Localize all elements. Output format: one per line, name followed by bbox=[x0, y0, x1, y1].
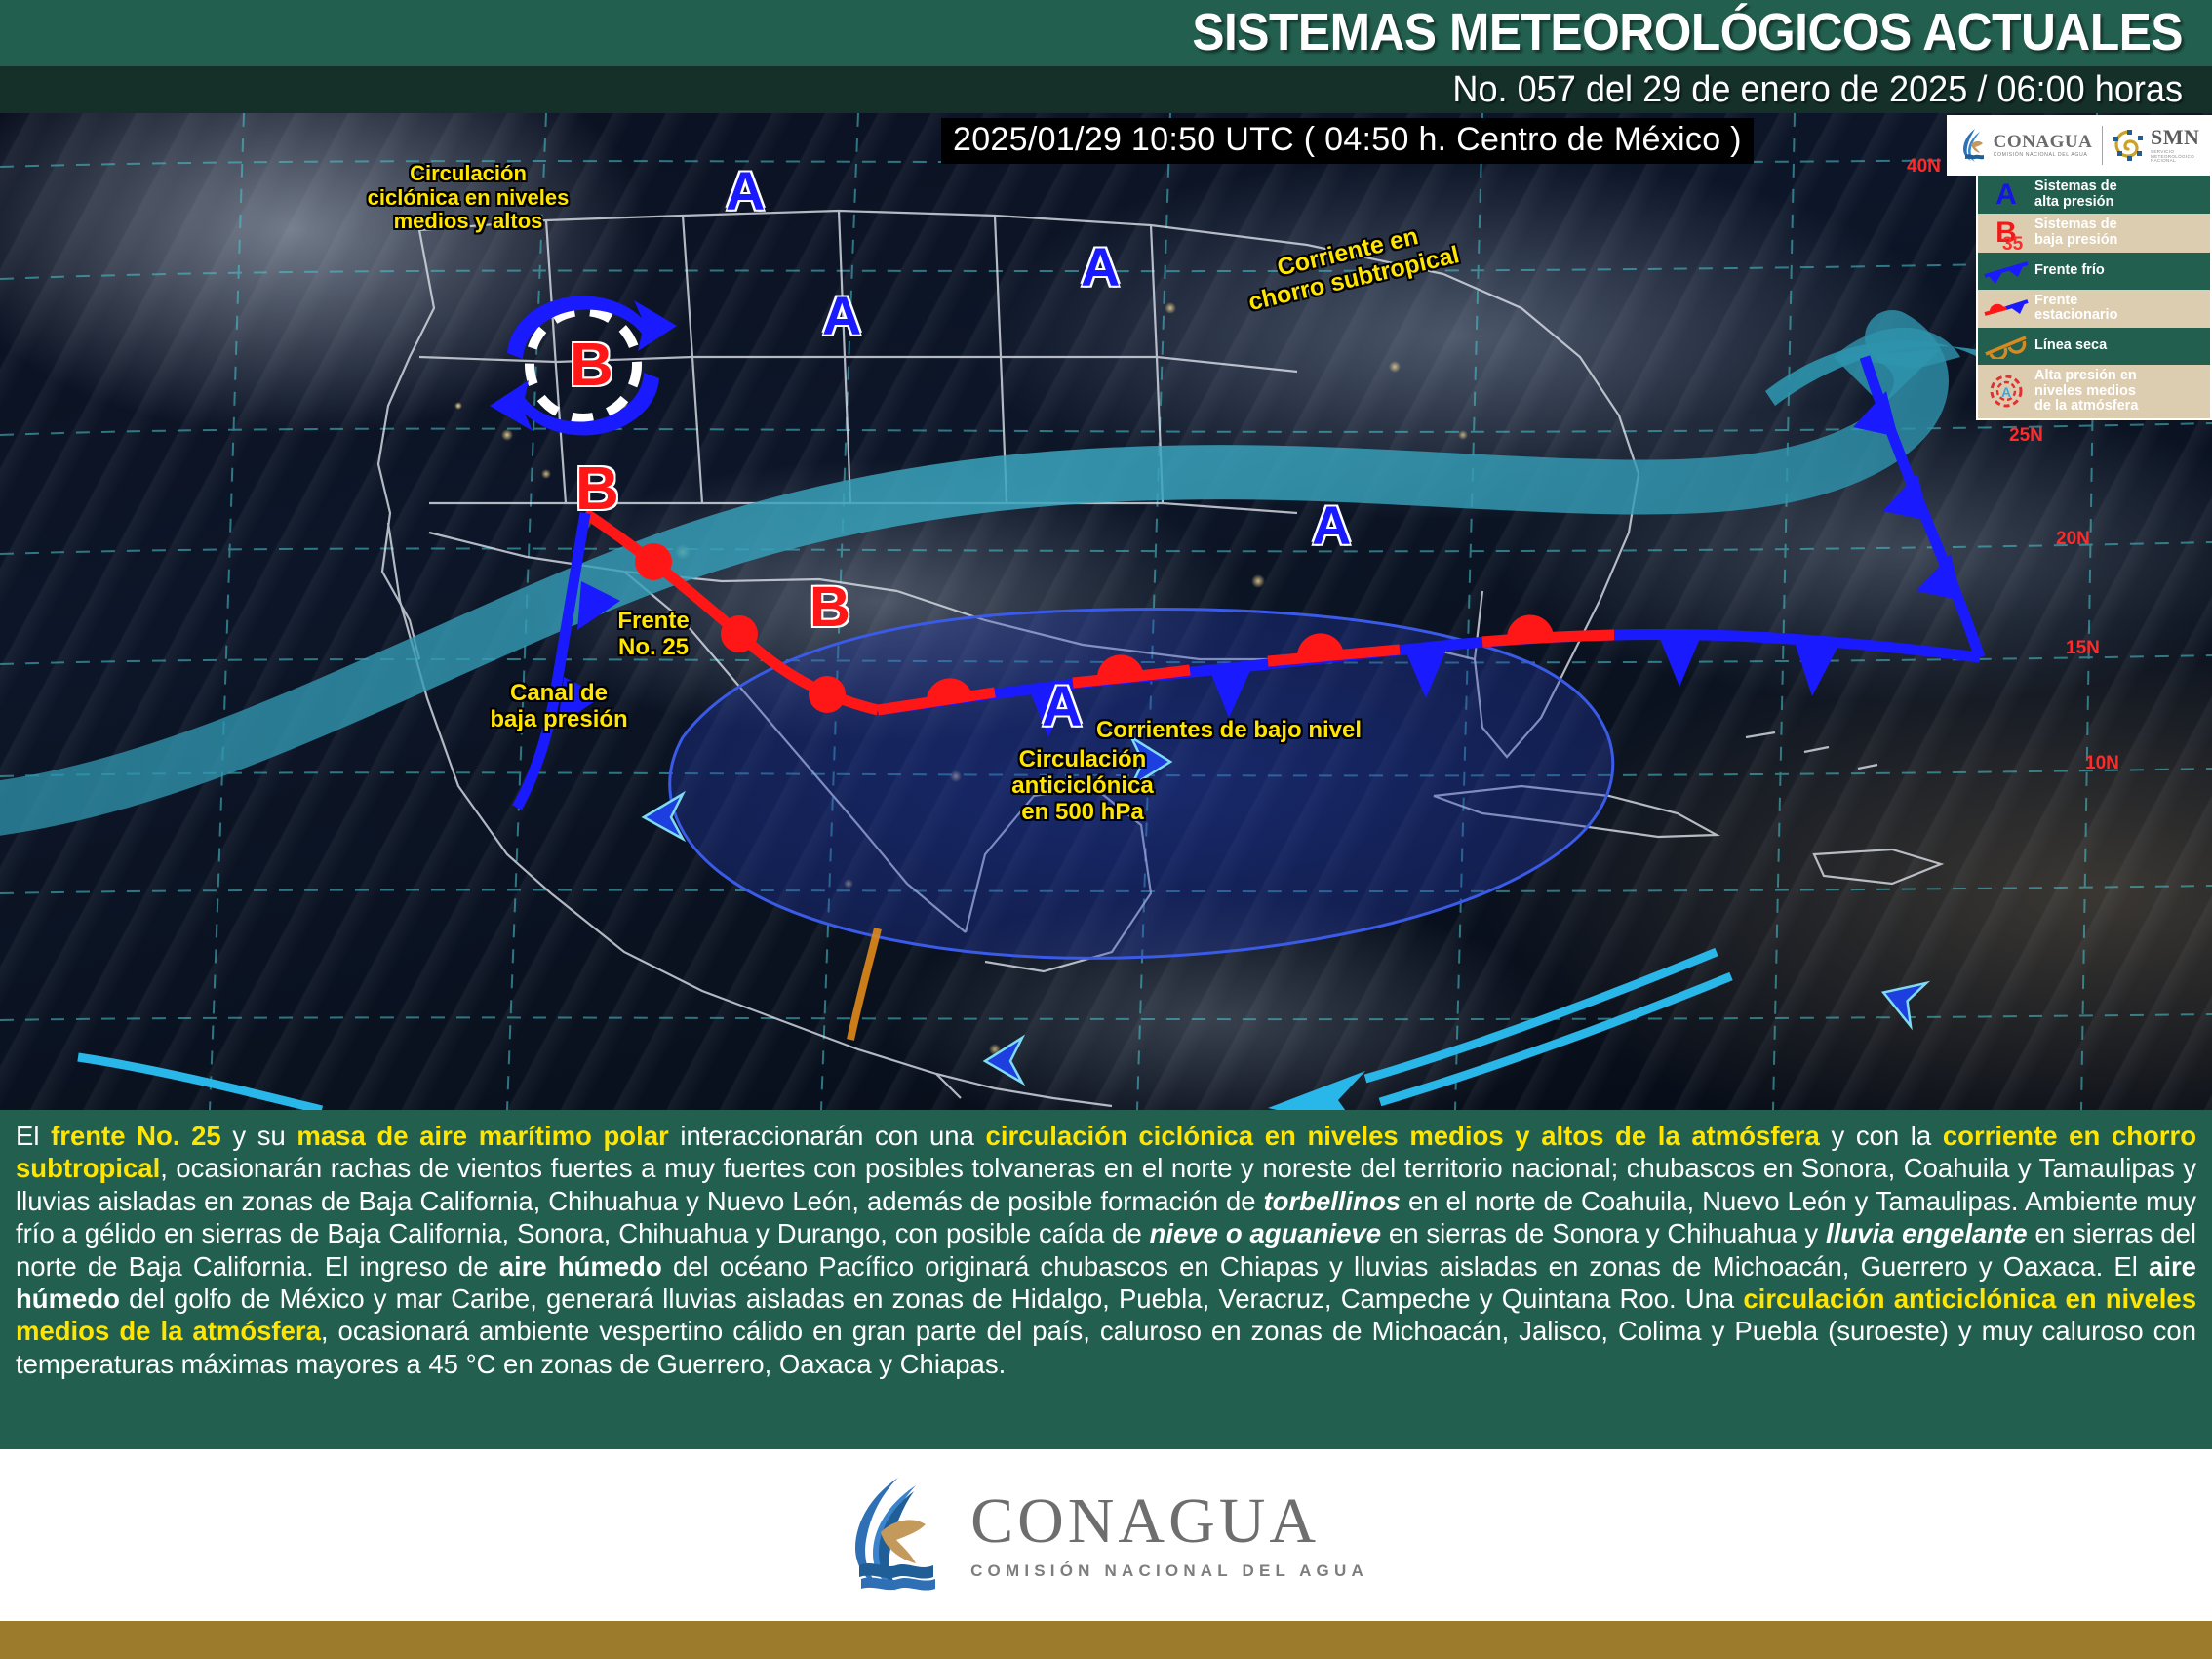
front-25-label: Frente No. 25 bbox=[585, 609, 722, 661]
header-subtitle-bar: No. 057 del 29 de enero de 2025 / 06:00 … bbox=[0, 66, 2212, 113]
satellite-timestamp: 2025/01/29 10:50 UTC ( 04:50 h. Centro d… bbox=[941, 118, 1754, 164]
stationary-front-icon bbox=[1978, 290, 2034, 327]
low-level-current-arrowhead bbox=[1268, 1071, 1365, 1110]
legend-label-dry-line: Línea seca bbox=[2034, 335, 2111, 358]
forecast-paragraph: El frente No. 25 y su masa de aire marít… bbox=[16, 1121, 2196, 1379]
low-pressure-B-circ: B bbox=[570, 336, 613, 396]
legend-item-mid-level-high[interactable]: A Alta presión en niveles medios de la a… bbox=[1978, 365, 2210, 418]
latitude-label-25n: 25N bbox=[2009, 425, 2043, 447]
latitude-label-35: 35 bbox=[2002, 234, 2023, 256]
low-pressure-trough-label: Canal de baja presión bbox=[466, 681, 652, 733]
conagua-logo-text: CONAGUA bbox=[1994, 133, 2093, 151]
satellite-weather-map[interactable]: 2025/01/29 10:50 UTC ( 04:50 h. Centro d… bbox=[0, 113, 2212, 1110]
smn-logo-text: SMN bbox=[2151, 127, 2199, 148]
forecast-description-text: El frente No. 25 y su masa de aire marít… bbox=[0, 1110, 2212, 1449]
footer-gold-bar bbox=[0, 1621, 2212, 1659]
smn-logo-subtext: SERVICIO METEOROLÓGICO NACIONAL bbox=[2151, 150, 2199, 164]
dry-line-icon bbox=[1978, 328, 2034, 365]
conagua-footer-logo: CONAGUA COMISIÓN NACIONAL DEL AGUA bbox=[844, 1472, 1368, 1599]
conagua-eagle-water-icon bbox=[1959, 127, 1989, 164]
legend-item-stationary-front[interactable]: Frente estacionario bbox=[1978, 290, 2210, 328]
conagua-eagle-water-icon-large bbox=[844, 1472, 949, 1599]
map-legend: A Sistemas de alta presión B Sistemas de… bbox=[1976, 174, 2212, 420]
high-pressure-A-central: A bbox=[1081, 240, 1120, 295]
legend-label-stationary-front: Frente estacionario bbox=[2034, 290, 2121, 328]
letter-A-blue-icon: A bbox=[1978, 177, 2034, 214]
cyclonic-circulation-label: Circulación ciclónica en niveles medios … bbox=[322, 162, 614, 234]
legend-label-high-pressure: Sistemas de alta presión bbox=[2034, 176, 2121, 214]
cold-front-icon bbox=[1978, 253, 2034, 290]
legend-item-dry-line[interactable]: Línea seca bbox=[1978, 328, 2210, 365]
latitude-label-15n: 15N bbox=[2066, 638, 2100, 659]
smn-spiral-icon bbox=[2112, 128, 2147, 163]
high-pressure-A-east: A bbox=[822, 289, 861, 343]
low-level-currents-arrows bbox=[1365, 952, 1731, 1102]
bulletin-number-date: No. 057 del 29 de enero de 2025 / 06:00 … bbox=[1452, 69, 2183, 111]
footer-conagua-subtext: COMISIÓN NACIONAL DEL AGUA bbox=[970, 1561, 1368, 1581]
conagua-logo: CONAGUA COMISIÓN NACIONAL DEL AGUA bbox=[1959, 127, 2093, 164]
legend-label-mid-level-high: Alta presión en niveles medios de la atm… bbox=[2034, 365, 2142, 418]
legend-label-low-pressure: Sistemas de baja presión bbox=[2034, 214, 2121, 252]
legend-item-cold-front[interactable]: Frente frío bbox=[1978, 253, 2210, 290]
low-level-currents-label: Corrientes de bajo nivel bbox=[1073, 718, 1385, 744]
low-pressure-B-gulf: B bbox=[810, 579, 850, 636]
page-title: SISTEMAS METEOROLÓGICOS ACTUALES bbox=[1192, 2, 2183, 62]
anticyclonic-circulation-label: Circulación anticiclónica en 500 hPa bbox=[966, 747, 1200, 826]
high-pressure-A-west: A bbox=[726, 164, 765, 218]
conagua-logo-subtext: COMISIÓN NACIONAL DEL AGUA bbox=[1994, 153, 2093, 158]
logo-strip: CONAGUA COMISIÓN NACIONAL DEL AGUA SMN S… bbox=[1947, 115, 2212, 176]
mid-level-high-icon: A bbox=[1978, 373, 2034, 410]
footer-conagua-text: CONAGUA bbox=[970, 1489, 1368, 1554]
legend-item-high-pressure[interactable]: A Sistemas de alta presión bbox=[1978, 176, 2210, 214]
low-pressure-B-front: B bbox=[575, 459, 619, 520]
smn-logo: SMN SERVICIO METEOROLÓGICO NACIONAL bbox=[2112, 127, 2199, 164]
high-pressure-A-gulf: A bbox=[1312, 498, 1351, 553]
legend-label-cold-front: Frente frío bbox=[2034, 259, 2109, 283]
header-title-bar: SISTEMAS METEOROLÓGICOS ACTUALES bbox=[0, 0, 2212, 66]
dry-line-overlay bbox=[850, 928, 878, 1040]
latitude-label-20n: 20N bbox=[2056, 529, 2090, 550]
svg-text:A: A bbox=[2001, 384, 2011, 400]
footer-logo-area: CONAGUA COMISIÓN NACIONAL DEL AGUA bbox=[0, 1449, 2212, 1621]
latitude-label-10n: 10N bbox=[2085, 753, 2119, 774]
latitude-label-40n: 40N bbox=[1907, 156, 1941, 178]
logo-divider bbox=[2102, 126, 2103, 165]
